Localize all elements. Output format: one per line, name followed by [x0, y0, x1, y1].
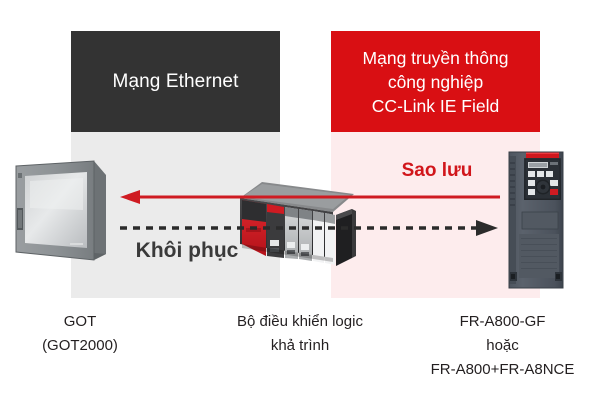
- ethernet-network-banner: Mạng Ethernet: [71, 31, 280, 132]
- got-caption-line-1: GOT: [0, 310, 160, 334]
- ethernet-banner-line: Mạng Ethernet: [113, 70, 239, 94]
- ethernet-banner-text: Mạng Ethernet: [113, 70, 239, 94]
- plc-caption-line-2: khả trình: [185, 334, 415, 358]
- backup-arrow: [118, 188, 500, 206]
- cclink-network-banner: Mạng truyền thông công nghiệp CC-Link IE…: [331, 31, 540, 132]
- plc-caption-line-1: Bộ điều khiển logic: [185, 310, 415, 334]
- inverter-caption-line-3: FR-A800+FR-A8NCE: [395, 358, 610, 382]
- got-hmi-device-image: [6, 148, 112, 274]
- inverter-caption-line-2: hoặc: [395, 334, 610, 358]
- backup-arrow-label: Sao lưu: [372, 160, 502, 182]
- cclink-banner-line-3: CC-Link IE Field: [363, 94, 509, 118]
- plc-device-caption: Bộ điều khiển logic khả trình: [185, 310, 415, 358]
- cclink-banner-line-2: công nghiệp: [363, 70, 509, 94]
- restore-arrow: [118, 219, 500, 237]
- cclink-banner-text: Mạng truyền thông công nghiệp CC-Link IE…: [363, 46, 509, 118]
- inverter-caption-line-1: FR-A800-GF: [395, 310, 610, 334]
- cclink-banner-line-1: Mạng truyền thông: [363, 46, 509, 70]
- inverter-device-caption: FR-A800-GF hoặc FR-A800+FR-A8NCE: [395, 310, 610, 382]
- got-device-caption: GOT (GOT2000): [0, 310, 160, 358]
- inverter-device-image: [505, 146, 567, 290]
- got-caption-line-2: (GOT2000): [0, 334, 160, 358]
- restore-arrow-label: Khôi phục: [112, 239, 262, 263]
